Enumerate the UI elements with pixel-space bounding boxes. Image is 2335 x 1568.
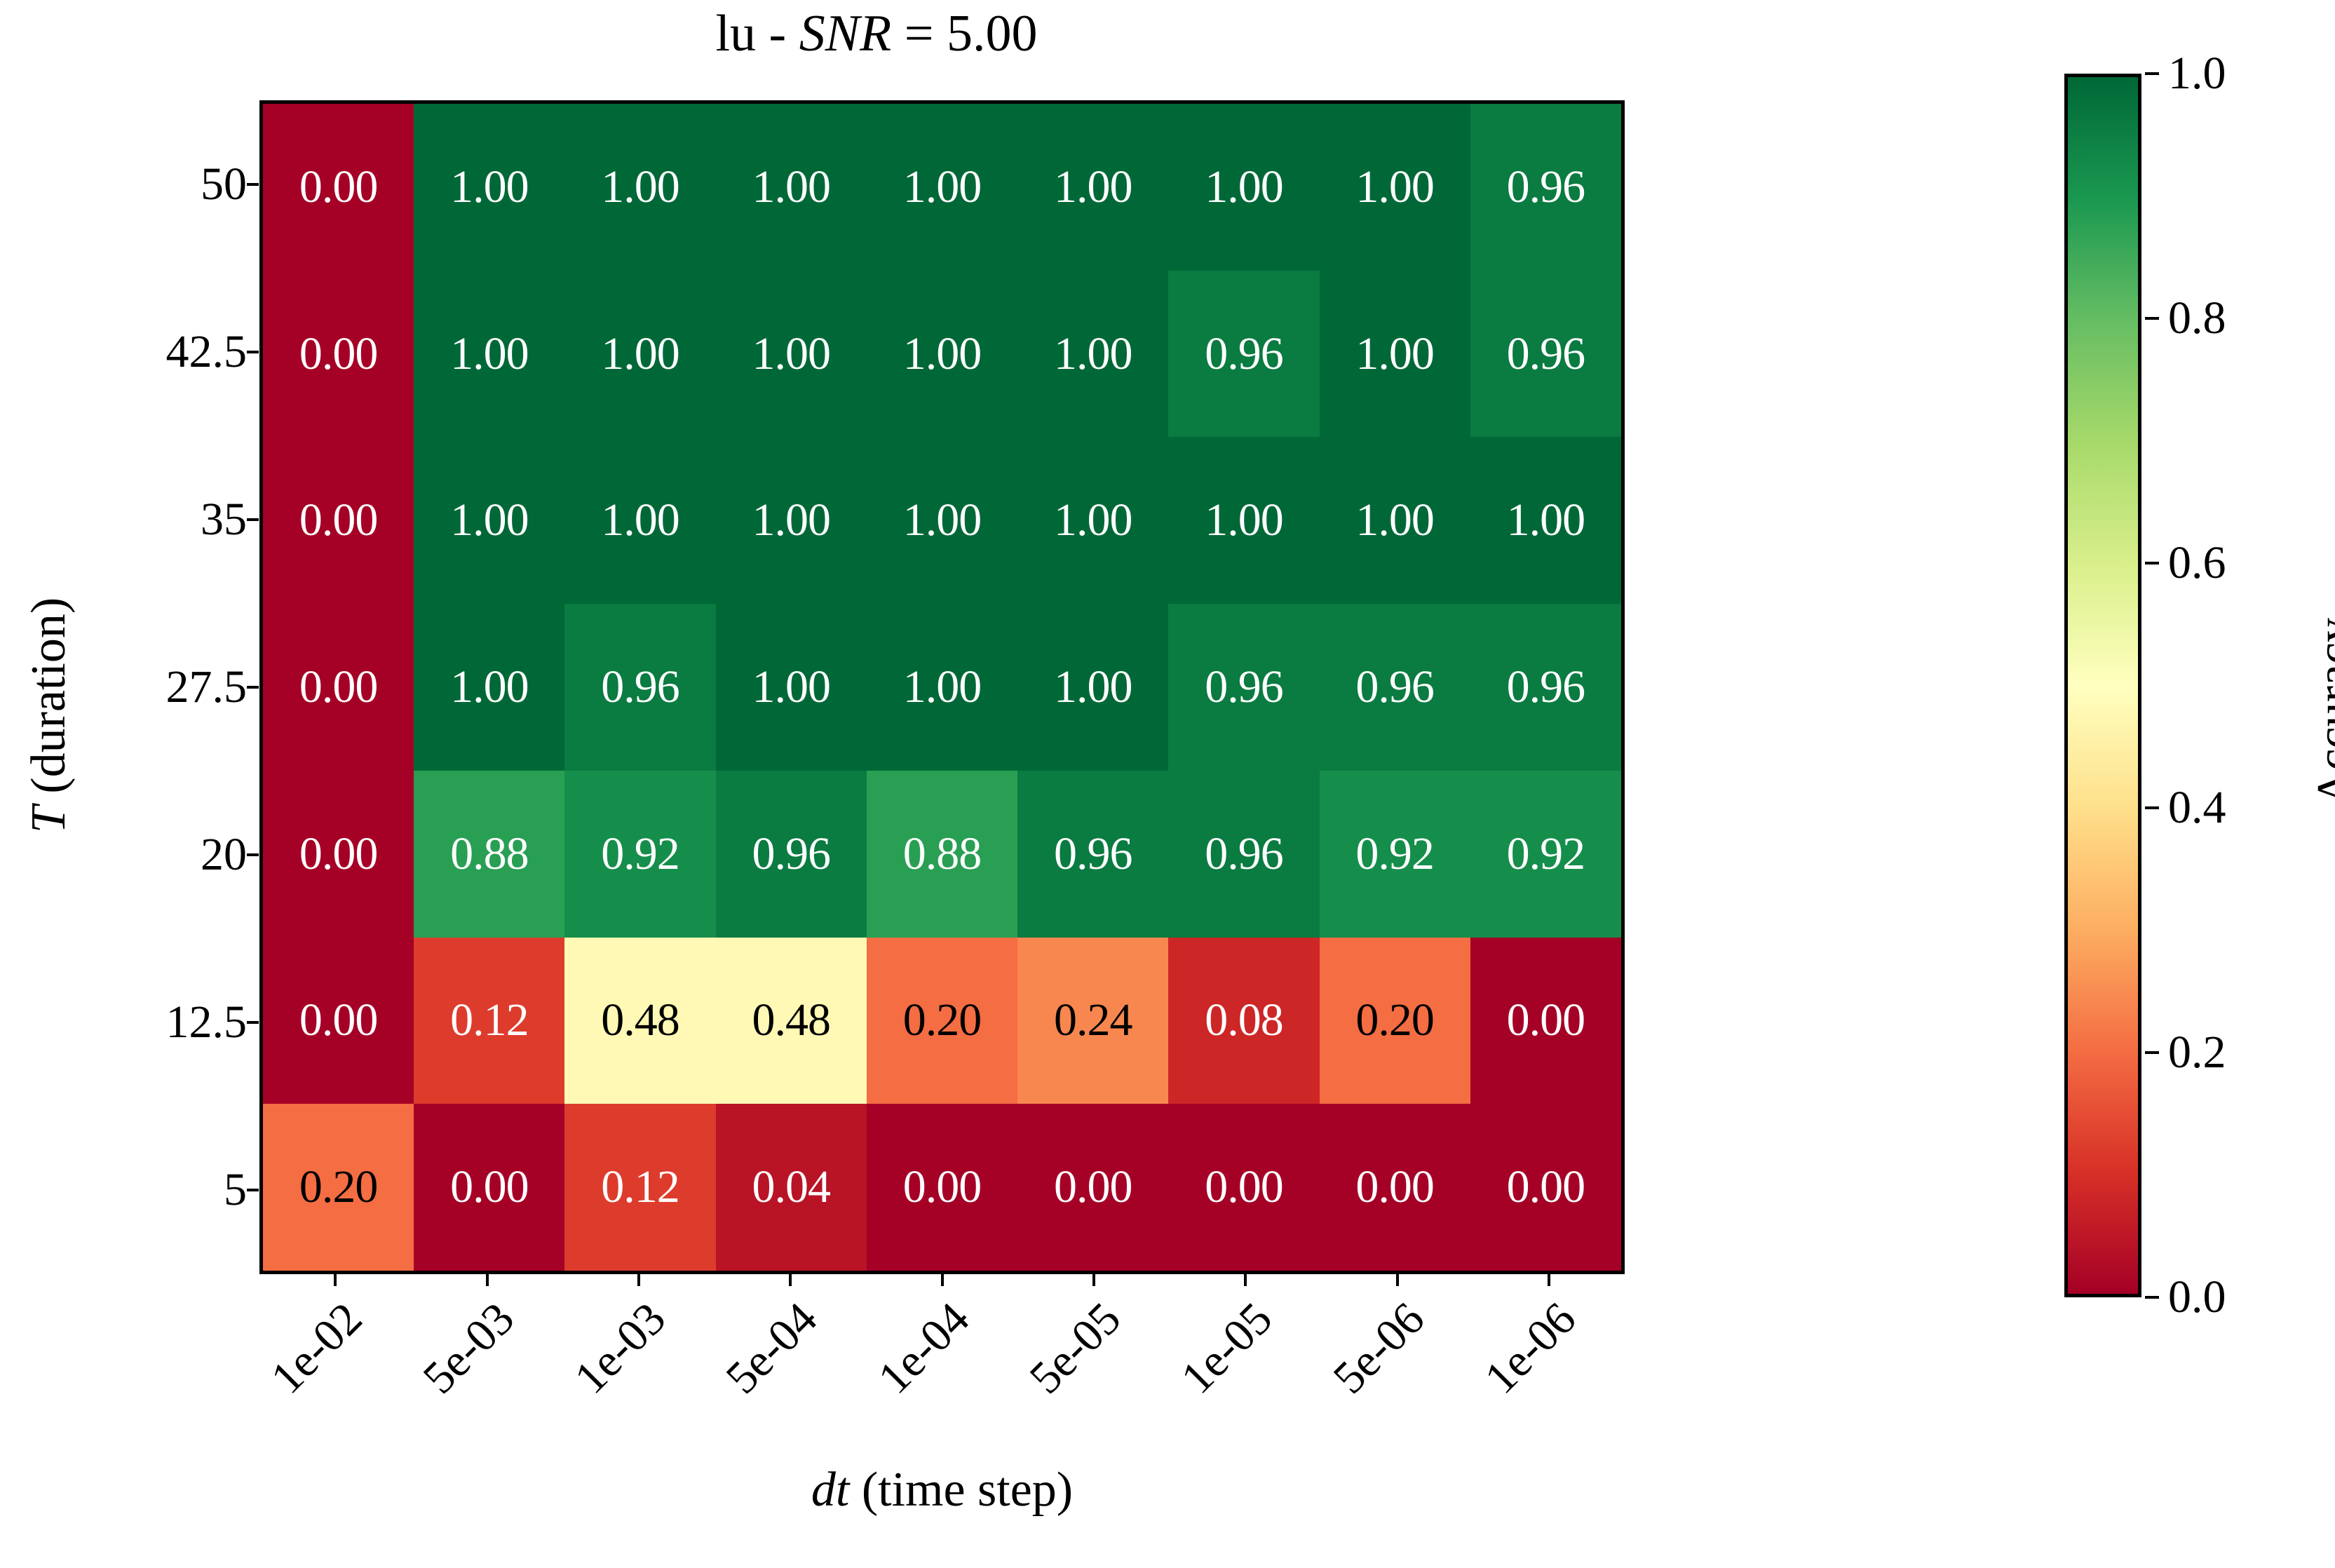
heatmap-cell: 0.12 bbox=[414, 938, 564, 1104]
heatmap-cell: 1.00 bbox=[414, 437, 564, 604]
heatmap-cell-value: 0.00 bbox=[1205, 1164, 1283, 1210]
y-tick-mark bbox=[247, 1189, 259, 1191]
heatmap-cell: 1.00 bbox=[867, 437, 1017, 604]
heatmap-cell-value: 0.48 bbox=[752, 997, 831, 1043]
heatmap-cell: 0.88 bbox=[414, 771, 564, 938]
y-tick-mark bbox=[247, 183, 259, 186]
heatmap-cell: 0.00 bbox=[1017, 1104, 1168, 1271]
heatmap-cell: 0.48 bbox=[564, 938, 715, 1104]
heatmap-cell-value: 0.96 bbox=[1205, 664, 1283, 710]
heatmap-cell-value: 0.88 bbox=[903, 831, 982, 877]
y-tick-label: 27.5 bbox=[0, 661, 247, 714]
heatmap-cell: 0.88 bbox=[867, 771, 1017, 938]
heatmap-cell-value: 0.00 bbox=[299, 664, 378, 710]
heatmap-cell-value: 1.00 bbox=[450, 664, 529, 710]
heatmap-cell: 1.00 bbox=[1320, 104, 1470, 271]
heatmap-cell-value: 1.00 bbox=[752, 164, 831, 210]
x-tick-mark bbox=[1092, 1274, 1095, 1286]
heatmap-cell: 0.96 bbox=[716, 771, 867, 938]
colorbar-tick-mark bbox=[2145, 1296, 2159, 1299]
heatmap-cell: 1.00 bbox=[564, 271, 715, 438]
heatmap-cell: 1.00 bbox=[716, 604, 867, 771]
heatmap-cell: 0.20 bbox=[1320, 938, 1470, 1104]
heatmap-cell: 0.00 bbox=[263, 604, 414, 771]
heatmap-cell: 0.96 bbox=[1168, 771, 1319, 938]
heatmap-cell-value: 0.00 bbox=[299, 331, 378, 377]
heatmap-cell: 1.00 bbox=[867, 271, 1017, 438]
heatmap-cell: 0.96 bbox=[1320, 604, 1470, 771]
y-tick-label: 50 bbox=[0, 158, 247, 211]
heatmap-cell-value: 1.00 bbox=[601, 497, 679, 543]
x-tick-label: 5e-03 bbox=[249, 1292, 524, 1568]
heatmap-figure: lu - SNR = 5.00 T (duration) 5042.53527.… bbox=[0, 0, 2335, 1557]
heatmap-cell-value: 1.00 bbox=[1205, 164, 1283, 210]
heatmap-cell: 1.00 bbox=[1017, 437, 1168, 604]
heatmap-cell: 1.00 bbox=[1168, 437, 1319, 604]
y-tick-mark bbox=[247, 351, 259, 353]
heatmap-cell-value: 0.96 bbox=[1507, 331, 1585, 377]
heatmap-cell: 0.20 bbox=[867, 938, 1017, 1104]
heatmap-cell-value: 0.96 bbox=[601, 664, 679, 710]
x-tick-label: 1e-06 bbox=[1311, 1292, 1586, 1568]
heatmap-cell-value: 1.00 bbox=[903, 664, 982, 710]
y-tick-mark bbox=[247, 518, 259, 521]
y-tick-label: 12.5 bbox=[0, 996, 247, 1049]
heatmap-cell-value: 0.00 bbox=[299, 831, 378, 877]
heatmap-cell: 0.48 bbox=[716, 938, 867, 1104]
heatmap-cell: 0.00 bbox=[263, 104, 414, 271]
heatmap-cell: 0.08 bbox=[1168, 938, 1319, 1104]
heatmap-cell: 1.00 bbox=[1017, 271, 1168, 438]
heatmap-cell-value: 0.12 bbox=[601, 1164, 679, 1210]
colorbar-tick-label: 1.0 bbox=[2168, 47, 2226, 100]
x-tick-mark bbox=[486, 1274, 489, 1286]
heatmap-cell: 0.04 bbox=[716, 1104, 867, 1271]
colorbar-tick-mark bbox=[2145, 72, 2159, 75]
heatmap-cell-value: 1.00 bbox=[752, 664, 831, 710]
heatmap-cell: 1.00 bbox=[564, 437, 715, 604]
heatmap-cell: 1.00 bbox=[1470, 437, 1621, 604]
heatmap-cell: 1.00 bbox=[867, 604, 1017, 771]
heatmap-cell-value: 0.04 bbox=[752, 1164, 831, 1210]
chart-title: lu - SNR = 5.00 bbox=[0, 4, 1753, 64]
heatmap-cell-value: 1.00 bbox=[1507, 497, 1585, 543]
heatmap-cell: 0.00 bbox=[1320, 1104, 1470, 1271]
y-tick-mark bbox=[247, 686, 259, 689]
heatmap-cell-value: 0.96 bbox=[1054, 831, 1132, 877]
x-tick-label: 5e-06 bbox=[1159, 1292, 1435, 1568]
heatmap-cell-value: 1.00 bbox=[1054, 331, 1132, 377]
heatmap-cell: 0.92 bbox=[1320, 771, 1470, 938]
heatmap-cell-value: 0.24 bbox=[1054, 997, 1132, 1043]
heatmap-grid: 0.001.001.001.001.001.001.001.000.960.00… bbox=[263, 104, 1621, 1271]
heatmap-cell-value: 1.00 bbox=[1205, 497, 1283, 543]
heatmap-cell: 1.00 bbox=[1168, 104, 1319, 271]
colorbar bbox=[2064, 74, 2141, 1297]
x-tick-label: 1e-04 bbox=[704, 1292, 980, 1568]
x-tick-label: 5e-05 bbox=[855, 1292, 1131, 1568]
y-tick-label: 20 bbox=[0, 828, 247, 881]
heatmap-cell: 0.96 bbox=[1168, 604, 1319, 771]
heatmap-cell-value: 0.96 bbox=[1507, 664, 1585, 710]
heatmap-cell: 0.00 bbox=[263, 271, 414, 438]
x-axis-label: dt (time step) bbox=[259, 1462, 1625, 1518]
x-tick-mark bbox=[1548, 1274, 1550, 1286]
heatmap-cell-value: 0.00 bbox=[1507, 1164, 1585, 1210]
heatmap-cell: 1.00 bbox=[414, 104, 564, 271]
x-tick-label: 1e-03 bbox=[400, 1292, 676, 1568]
heatmap-cell-value: 0.00 bbox=[299, 164, 378, 210]
title-suffix: = 5.00 bbox=[891, 5, 1037, 62]
heatmap-cell: 0.92 bbox=[564, 771, 715, 938]
heatmap-cell-value: 0.92 bbox=[1355, 831, 1434, 877]
heatmap-cell: 0.96 bbox=[1168, 271, 1319, 438]
x-axis-label-text: (time step) bbox=[849, 1463, 1073, 1517]
colorbar-tick-label: 0.6 bbox=[2168, 536, 2226, 590]
heatmap-cell-value: 1.00 bbox=[450, 164, 529, 210]
heatmap-cell-value: 0.08 bbox=[1205, 997, 1283, 1043]
heatmap-cell-value: 0.96 bbox=[1355, 664, 1434, 710]
heatmap-cell: 0.00 bbox=[867, 1104, 1017, 1271]
heatmap-cell: 0.96 bbox=[564, 604, 715, 771]
title-prefix: lu - bbox=[716, 5, 799, 62]
x-tick-label: 5e-04 bbox=[553, 1292, 828, 1568]
y-tick-mark bbox=[247, 1021, 259, 1024]
heatmap-cell: 0.92 bbox=[1470, 771, 1621, 938]
colorbar-tick-label: 0.0 bbox=[2168, 1271, 2226, 1324]
heatmap-cell: 0.00 bbox=[263, 938, 414, 1104]
colorbar-tick-label: 0.2 bbox=[2168, 1026, 2226, 1079]
heatmap-cell-value: 0.00 bbox=[1507, 997, 1585, 1043]
y-tick-label: 5 bbox=[0, 1163, 247, 1217]
heatmap-cell-value: 0.00 bbox=[299, 497, 378, 543]
heatmap-cell: 0.24 bbox=[1017, 938, 1168, 1104]
heatmap-cell-value: 1.00 bbox=[1355, 331, 1434, 377]
heatmap-cell-value: 0.96 bbox=[1507, 164, 1585, 210]
heatmap-cell-value: 0.20 bbox=[903, 997, 982, 1043]
heatmap-cell-value: 0.00 bbox=[903, 1164, 982, 1210]
heatmap-cell: 1.00 bbox=[1320, 271, 1470, 438]
heatmap-cell-value: 1.00 bbox=[752, 497, 831, 543]
heatmap-cell-value: 0.92 bbox=[1507, 831, 1585, 877]
y-tick-label: 42.5 bbox=[0, 325, 247, 379]
heatmap-cell-value: 0.20 bbox=[1355, 997, 1434, 1043]
heatmap-cell-value: 0.00 bbox=[450, 1164, 529, 1210]
heatmap-cell-value: 1.00 bbox=[903, 497, 982, 543]
heatmap-cell: 0.96 bbox=[1470, 104, 1621, 271]
heatmap-cell-value: 1.00 bbox=[903, 164, 982, 210]
heatmap-cell: 0.00 bbox=[1168, 1104, 1319, 1271]
colorbar-tick-mark bbox=[2145, 806, 2159, 809]
heatmap-cell: 0.00 bbox=[263, 771, 414, 938]
heatmap-cell-value: 0.20 bbox=[299, 1164, 378, 1210]
heatmap-cell-value: 0.96 bbox=[752, 831, 831, 877]
heatmap-cell-value: 1.00 bbox=[1054, 497, 1132, 543]
x-tick-mark bbox=[1396, 1274, 1399, 1286]
heatmap-plot-area: 0.001.001.001.001.001.001.001.000.960.00… bbox=[259, 100, 1625, 1274]
heatmap-cell-value: 1.00 bbox=[1054, 664, 1132, 710]
heatmap-cell: 1.00 bbox=[1320, 437, 1470, 604]
heatmap-cell: 1.00 bbox=[716, 437, 867, 604]
heatmap-cell-value: 1.00 bbox=[1054, 164, 1132, 210]
y-tick-label: 35 bbox=[0, 493, 247, 546]
heatmap-cell-value: 1.00 bbox=[601, 164, 679, 210]
x-tick-mark bbox=[334, 1274, 337, 1286]
heatmap-cell: 0.00 bbox=[1470, 938, 1621, 1104]
heatmap-cell: 1.00 bbox=[1017, 604, 1168, 771]
heatmap-cell-value: 0.96 bbox=[1205, 831, 1283, 877]
colorbar-label: Accuracy bbox=[2307, 431, 2335, 992]
heatmap-cell-value: 1.00 bbox=[752, 331, 831, 377]
heatmap-cell: 0.00 bbox=[1470, 1104, 1621, 1271]
heatmap-cell: 0.12 bbox=[564, 1104, 715, 1271]
colorbar-gradient bbox=[2068, 77, 2138, 1294]
heatmap-cell: 1.00 bbox=[867, 104, 1017, 271]
heatmap-cell: 0.96 bbox=[1017, 771, 1168, 938]
title-italic-snr: SNR bbox=[799, 5, 892, 62]
heatmap-cell: 1.00 bbox=[716, 271, 867, 438]
heatmap-cell-value: 1.00 bbox=[1355, 497, 1434, 543]
heatmap-cell: 1.00 bbox=[716, 104, 867, 271]
heatmap-cell-value: 0.48 bbox=[601, 997, 679, 1043]
heatmap-cell: 1.00 bbox=[414, 604, 564, 771]
x-axis-label-italic: dt bbox=[811, 1463, 849, 1517]
heatmap-cell-value: 0.92 bbox=[601, 831, 679, 877]
heatmap-cell-value: 1.00 bbox=[450, 331, 529, 377]
x-tick-mark bbox=[637, 1274, 640, 1286]
heatmap-cell-value: 0.88 bbox=[450, 831, 529, 877]
heatmap-cell: 1.00 bbox=[414, 271, 564, 438]
heatmap-cell: 1.00 bbox=[1017, 104, 1168, 271]
colorbar-tick-mark bbox=[2145, 317, 2159, 320]
heatmap-cell: 1.00 bbox=[564, 104, 715, 271]
x-tick-mark bbox=[941, 1274, 944, 1286]
x-tick-mark bbox=[1244, 1274, 1247, 1286]
heatmap-cell-value: 0.00 bbox=[1054, 1164, 1132, 1210]
heatmap-cell-value: 1.00 bbox=[1355, 164, 1434, 210]
heatmap-cell: 0.20 bbox=[263, 1104, 414, 1271]
heatmap-cell-value: 1.00 bbox=[903, 331, 982, 377]
heatmap-cell-value: 0.00 bbox=[1355, 1164, 1434, 1210]
heatmap-cell: 0.00 bbox=[263, 437, 414, 604]
colorbar-tick-label: 0.8 bbox=[2168, 292, 2226, 345]
colorbar-tick-mark bbox=[2145, 562, 2159, 565]
colorbar-tick-mark bbox=[2145, 1051, 2159, 1054]
heatmap-cell: 0.00 bbox=[414, 1104, 564, 1271]
heatmap-cell-value: 0.00 bbox=[299, 997, 378, 1043]
colorbar-tick-label: 0.4 bbox=[2168, 781, 2226, 834]
heatmap-cell-value: 0.96 bbox=[1205, 331, 1283, 377]
y-tick-mark bbox=[247, 853, 259, 856]
x-tick-label: 1e-02 bbox=[97, 1292, 373, 1568]
x-tick-label: 1e-05 bbox=[1008, 1292, 1283, 1568]
x-tick-mark bbox=[789, 1274, 792, 1286]
heatmap-cell: 0.96 bbox=[1470, 271, 1621, 438]
heatmap-cell-value: 1.00 bbox=[450, 497, 529, 543]
heatmap-cell-value: 0.12 bbox=[450, 997, 529, 1043]
heatmap-cell-value: 1.00 bbox=[601, 331, 679, 377]
heatmap-cell: 0.96 bbox=[1470, 604, 1621, 771]
